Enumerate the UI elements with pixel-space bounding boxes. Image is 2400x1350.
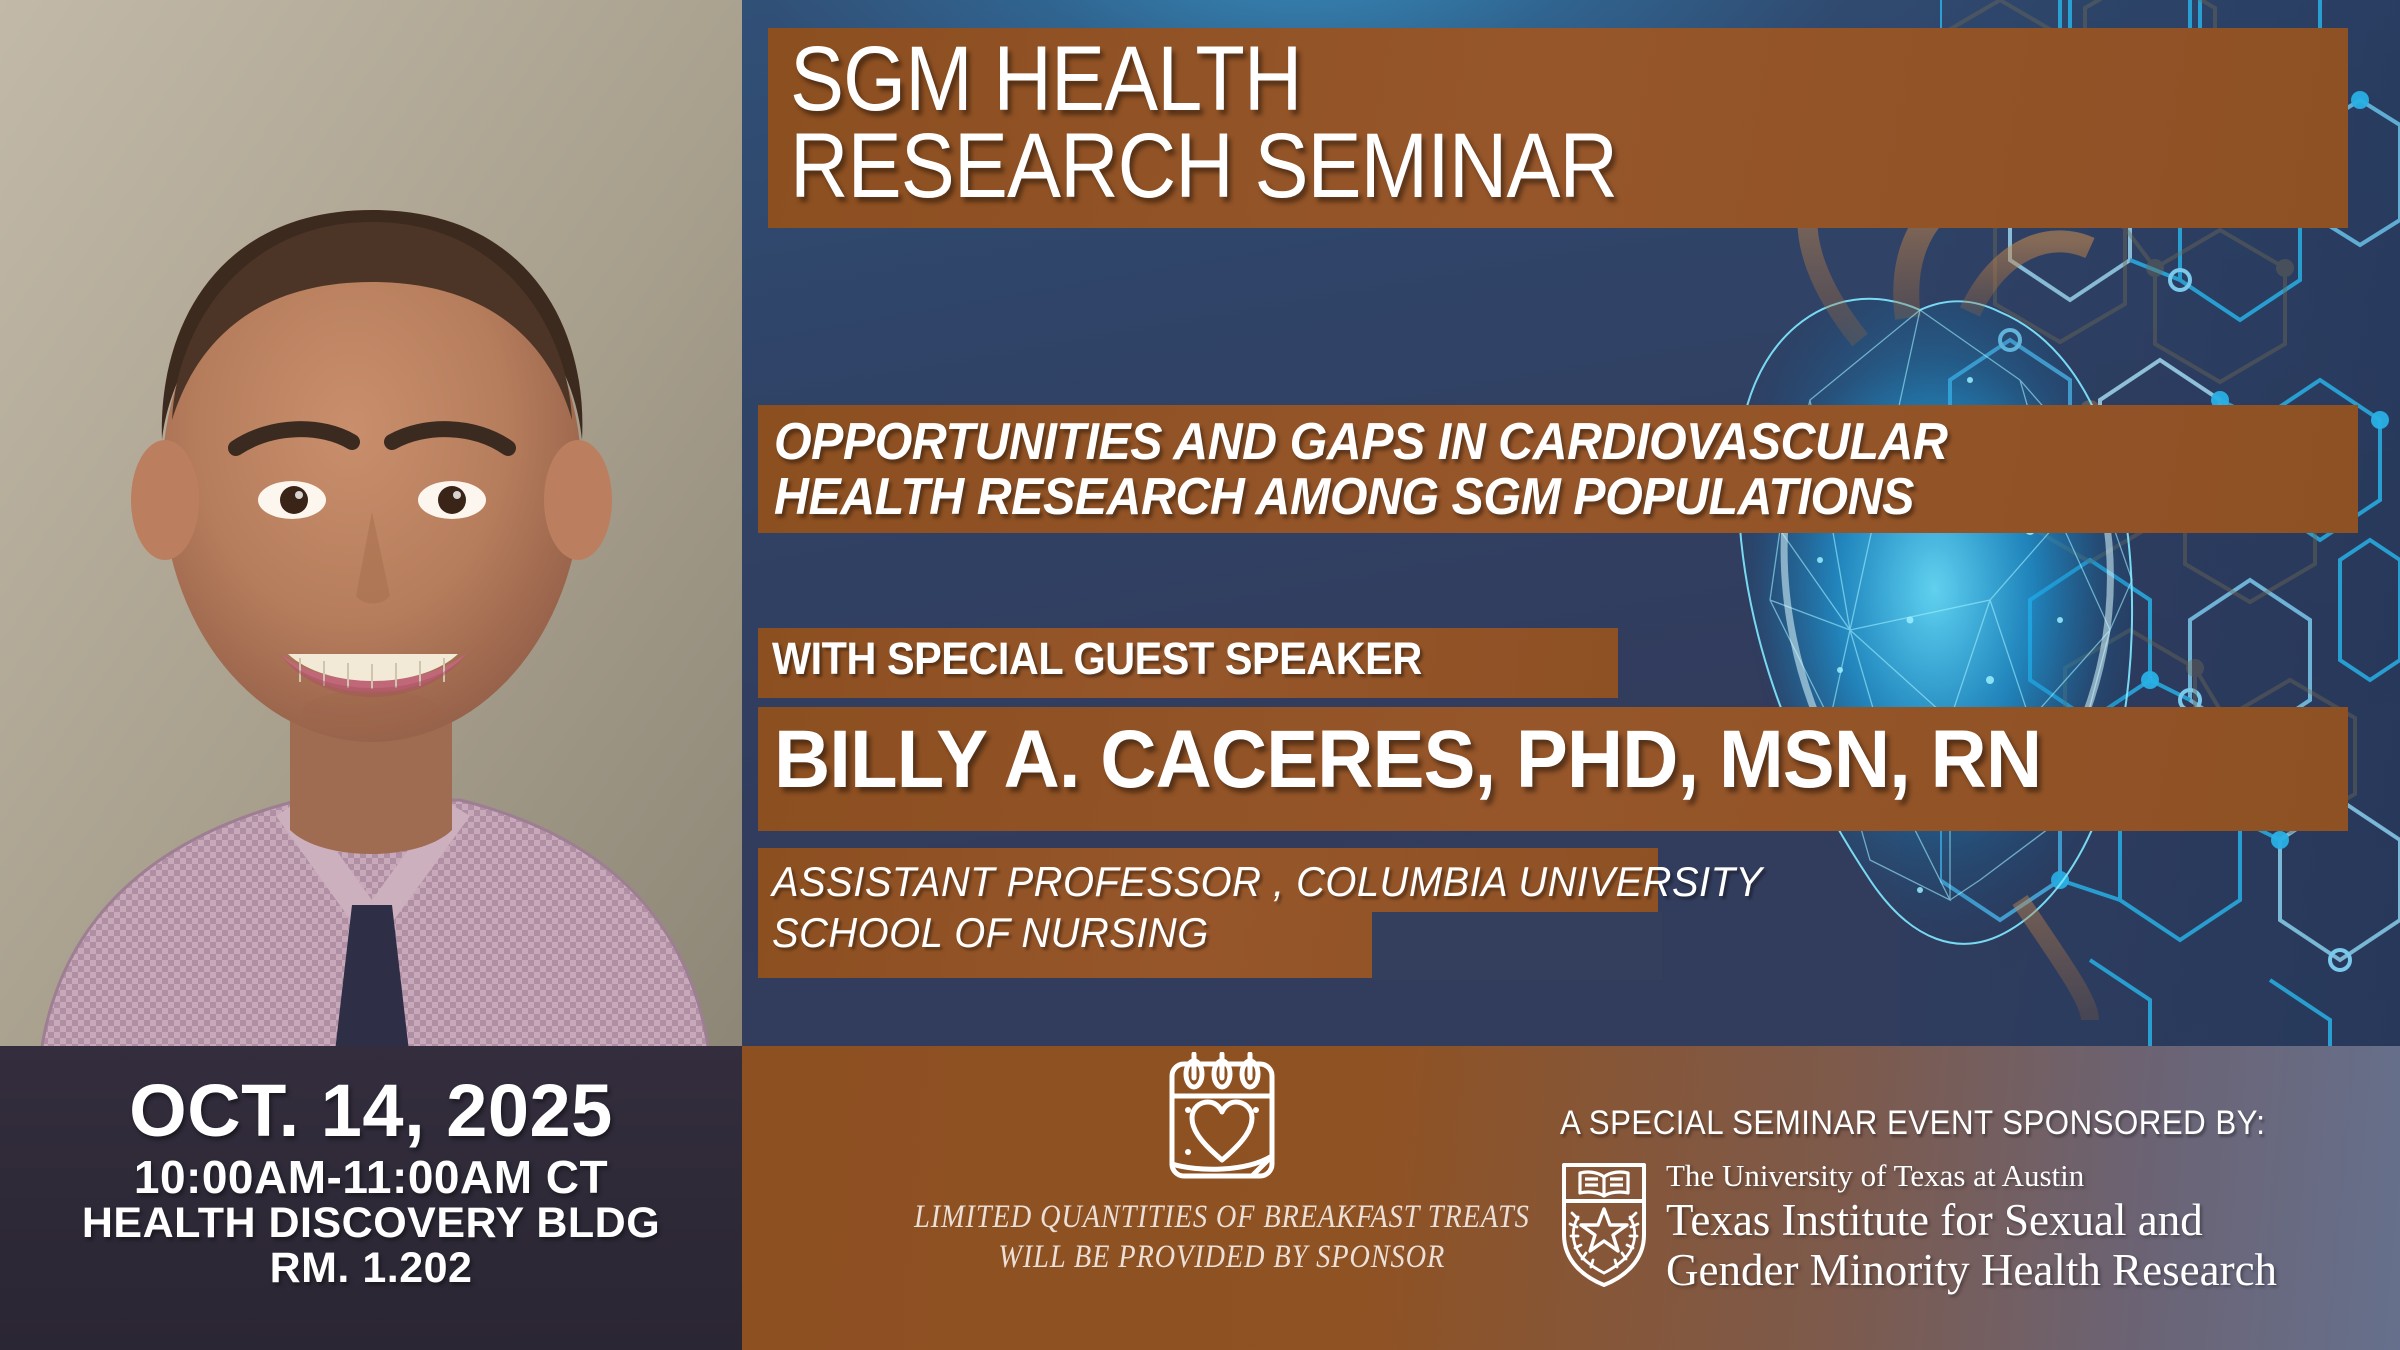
speaker-headshot-photo bbox=[0, 0, 742, 1060]
guest-speaker-label: WITH SPECIAL GUEST SPEAKER bbox=[772, 636, 1537, 681]
event-details-block: OCT. 14, 2025 10:00AM-11:00AM CT HEALTH … bbox=[0, 1046, 742, 1350]
affiliation-block-notch bbox=[1372, 912, 1662, 980]
title-line-2: RESEARCH SEMINAR bbox=[790, 123, 2142, 210]
calendar-heart-icon bbox=[1158, 1052, 1286, 1184]
sponsor-org-line-2: Texas Institute for Sexual and bbox=[1666, 1195, 2277, 1245]
subtitle-line-1: OPPORTUNITIES AND GAPS IN CARDIOVASCULAR bbox=[774, 415, 2232, 470]
breakfast-treats-block: LIMITED QUANTITIES OF BREAKFAST TREATS W… bbox=[902, 1052, 1542, 1342]
sponsor-block: A SPECIAL SEMINAR EVENT SPONSORED BY: bbox=[1560, 1104, 2380, 1296]
subtitle-line-2: HEALTH RESEARCH AMONG SGM POPULATIONS bbox=[774, 470, 2232, 525]
guest-speaker-label-block: WITH SPECIAL GUEST SPEAKER bbox=[758, 628, 1618, 698]
treats-line-2: WILL BE PROVIDED BY SPONSOR bbox=[999, 1238, 1446, 1278]
sponsor-org-line-3: Gender Minority Health Research bbox=[1666, 1245, 2277, 1295]
treats-line-1: LIMITED QUANTITIES OF BREAKFAST TREATS bbox=[914, 1198, 1530, 1238]
seminar-poster: SGM HEALTH RESEARCH SEMINAR OPPORTUNITIE… bbox=[0, 0, 2400, 1350]
poster-footer: LIMITED QUANTITIES OF BREAKFAST TREATS W… bbox=[742, 1046, 2400, 1350]
event-room: RM. 1.202 bbox=[270, 1247, 473, 1290]
poster-subtitle-block: OPPORTUNITIES AND GAPS IN CARDIOVASCULAR… bbox=[758, 405, 2358, 533]
sponsor-org-name: The University of Texas at Austin Texas … bbox=[1666, 1159, 2277, 1296]
affiliation-line-1: ASSISTANT PROFESSOR , COLUMBIA UNIVERSIT… bbox=[772, 856, 1600, 907]
event-building: HEALTH DISCOVERY BLDG bbox=[82, 1202, 660, 1245]
poster-title-block: SGM HEALTH RESEARCH SEMINAR bbox=[768, 28, 2348, 228]
speaker-name: BILLY A. CACERES, PHD, MSN, RN bbox=[774, 719, 2254, 801]
speaker-name-block: BILLY A. CACERES, PHD, MSN, RN bbox=[758, 707, 2348, 831]
sponsor-label: A SPECIAL SEMINAR EVENT SPONSORED BY: bbox=[1560, 1104, 2314, 1143]
sponsor-org-line-1: The University of Texas at Austin bbox=[1666, 1159, 2277, 1193]
title-line-1: SGM HEALTH bbox=[790, 36, 2142, 123]
event-time: 10:00AM-11:00AM CT bbox=[134, 1154, 608, 1200]
event-date: OCT. 14, 2025 bbox=[129, 1074, 613, 1148]
ut-austin-shield-icon bbox=[1560, 1161, 1648, 1289]
